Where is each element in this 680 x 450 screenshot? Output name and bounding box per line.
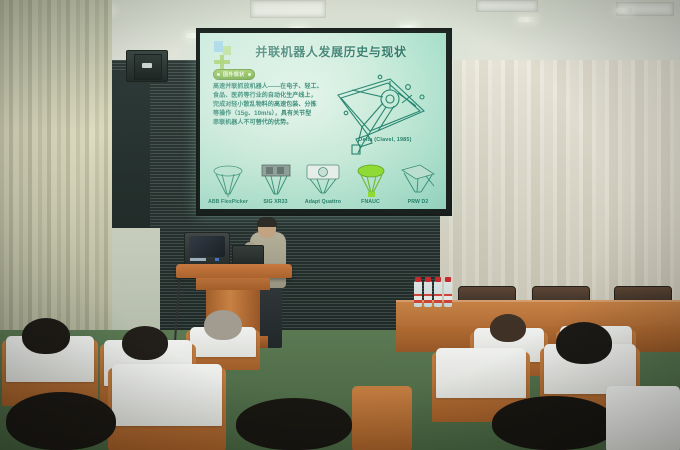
slide-body-line: 完成对轻小散乱物料的高速包装、分拣 xyxy=(213,101,323,110)
auditorium-seat xyxy=(352,386,412,450)
bottle-cap xyxy=(435,277,441,282)
bottle-label xyxy=(444,294,452,303)
robot-label: ABB FlexPicker xyxy=(206,199,250,205)
speaker-brand-logo xyxy=(142,63,152,68)
slide-section-badge: 国外现状 xyxy=(213,69,255,80)
curtain-shading xyxy=(0,0,112,330)
podium-top xyxy=(176,264,292,278)
audience-head xyxy=(204,310,242,340)
robot-item: Adapt Quattro xyxy=(301,162,345,205)
robot-thumbnail-row: ABB FlexPicker xyxy=(206,153,440,205)
robot-thumbnail-image xyxy=(396,162,440,198)
ceiling-vent-right xyxy=(476,0,538,12)
robot-label: PRW D2 xyxy=(396,199,440,205)
robot-item: SIG XR33 xyxy=(254,162,298,205)
water-bottle xyxy=(424,281,432,307)
audience-head xyxy=(236,398,352,450)
audience-head xyxy=(556,322,612,364)
seat-cover xyxy=(112,364,222,426)
crt-monitor xyxy=(184,232,230,267)
ceiling-light-4 xyxy=(518,17,536,22)
robot-thumbnail-image xyxy=(254,162,298,198)
monitor-power-led-icon xyxy=(215,258,219,261)
ceiling-light-5 xyxy=(616,8,632,13)
robot-label: SIG XR33 xyxy=(254,199,298,205)
robot-label: FNAUC xyxy=(349,199,393,205)
slide-deco-square-blue xyxy=(214,41,223,52)
side-door xyxy=(108,72,150,247)
audience-head xyxy=(6,392,116,450)
projection-screen: 并联机器人发展历史与现状 国外现状 高速并联抓放机器人——在电子、轻工、 食品、… xyxy=(200,33,446,209)
bottle-cap xyxy=(415,277,421,282)
slide-title: 并联机器人发展历史与现状 xyxy=(228,43,434,60)
slide-body-line: 等操作（15g、10m/s），具有关节型 xyxy=(213,110,323,119)
bottle-label xyxy=(424,294,432,303)
slide-body-line: 串联机器人不可替代的优势。 xyxy=(213,119,323,128)
audience-head xyxy=(492,396,616,450)
water-bottle xyxy=(444,281,452,307)
slide-body-line: 食品、医药等行业的自动化生产线上， xyxy=(213,92,323,101)
water-bottle xyxy=(414,281,422,307)
seat-cover xyxy=(606,386,680,450)
bottle-cap xyxy=(445,277,451,282)
monitor-screen xyxy=(189,236,225,257)
podium-neck xyxy=(196,278,270,290)
audience-head xyxy=(122,326,168,360)
slide-deco-cross-horizontal xyxy=(214,60,230,64)
robot-item: ABB FlexPicker xyxy=(206,162,250,205)
bottle-label xyxy=(414,294,422,303)
projection-screen-frame: 并联机器人发展历史与现状 国外现状 高速并联抓放机器人——在电子、轻工、 食品、… xyxy=(196,28,452,216)
wall-speaker xyxy=(126,50,168,82)
bottle-cap xyxy=(425,277,431,282)
audience-head xyxy=(22,318,70,354)
slide-body-line: 高速并联抓放机器人——在电子、轻工、 xyxy=(213,83,323,92)
seat-cover xyxy=(436,348,526,398)
water-bottle xyxy=(434,281,442,307)
monitor-bezel-stripe xyxy=(190,258,206,261)
robot-thumbnail-image xyxy=(206,162,250,198)
ceiling-vent-center xyxy=(250,0,326,18)
delta-figure-caption: Delta (Clavel, 1985) xyxy=(334,137,436,143)
robot-item: PRW D2 xyxy=(396,162,440,205)
presenter-hair xyxy=(257,217,277,227)
audience-head xyxy=(490,314,526,342)
bottle-label xyxy=(434,294,442,303)
robot-label: Adapt Quattro xyxy=(301,199,345,205)
robot-thumbnail-image xyxy=(349,162,393,198)
delta-robot-diagram xyxy=(328,73,436,157)
robot-thumbnail-image xyxy=(301,162,345,198)
slide-body-text: 高速并联抓放机器人——在电子、轻工、 食品、医药等行业的自动化生产线上， 完成对… xyxy=(213,83,323,129)
lecture-hall-photo: 并联机器人发展历史与现状 国外现状 高速并联抓放机器人——在电子、轻工、 食品、… xyxy=(0,0,680,450)
robot-item: FNAUC xyxy=(349,162,393,205)
